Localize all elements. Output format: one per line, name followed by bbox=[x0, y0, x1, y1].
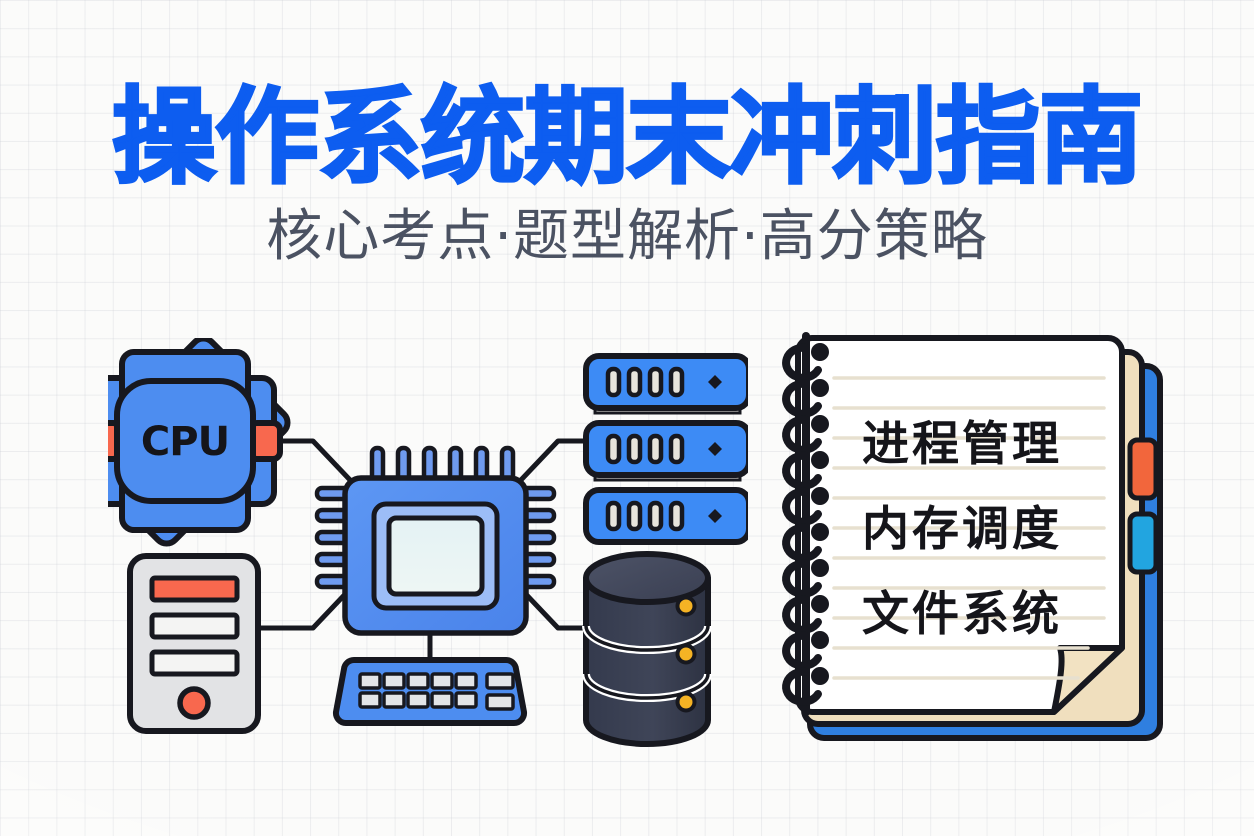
server-unit bbox=[586, 490, 748, 542]
server-unit bbox=[586, 356, 748, 408]
tower-drive-bay bbox=[152, 652, 237, 674]
connection-chip-database bbox=[520, 588, 586, 628]
notebook-topic-line: 进程管理 bbox=[862, 417, 1062, 472]
tower-indicator-bar bbox=[152, 578, 237, 600]
connection-chip-server bbox=[520, 441, 586, 481]
server-rack-icon bbox=[586, 356, 748, 542]
microchip-icon bbox=[317, 448, 554, 633]
tower-power-button bbox=[180, 689, 208, 717]
bookmark-tab-orange bbox=[1130, 440, 1156, 498]
cover-artboard: 操作系统期末冲刺指南 核心考点·题型解析·高分策略 bbox=[0, 0, 1254, 836]
notebook-topic-line: 内存调度 bbox=[862, 502, 1062, 557]
cpu-gear-icon: CPU bbox=[108, 338, 292, 548]
keyboard-icon bbox=[336, 660, 524, 723]
desktop-tower-icon bbox=[130, 556, 258, 731]
computer-architecture-diagram: CPU bbox=[108, 338, 748, 748]
page-subtitle: 核心考点·题型解析·高分策略 bbox=[0, 206, 1254, 268]
cpu-label: CPU bbox=[141, 419, 229, 465]
header-block: 操作系统期末冲刺指南 核心考点·题型解析·高分策略 bbox=[0, 82, 1254, 268]
spiral-binding bbox=[786, 336, 825, 712]
database-status-dot bbox=[678, 646, 695, 663]
notebook-topic-line: 文件系统 bbox=[862, 587, 1062, 642]
bookmark-tab-cyan bbox=[1130, 514, 1156, 572]
database-icon bbox=[586, 554, 708, 744]
server-unit bbox=[586, 423, 748, 475]
connection-tower-chip bbox=[261, 588, 351, 628]
database-status-dot bbox=[678, 694, 695, 711]
page-title: 操作系统期末冲刺指南 bbox=[0, 82, 1254, 192]
database-status-dot bbox=[678, 598, 695, 615]
chip-core bbox=[389, 518, 482, 594]
tower-drive-bay bbox=[152, 615, 237, 637]
spiral-notebook: 进程管理 内存调度 文件系统 bbox=[778, 330, 1170, 752]
